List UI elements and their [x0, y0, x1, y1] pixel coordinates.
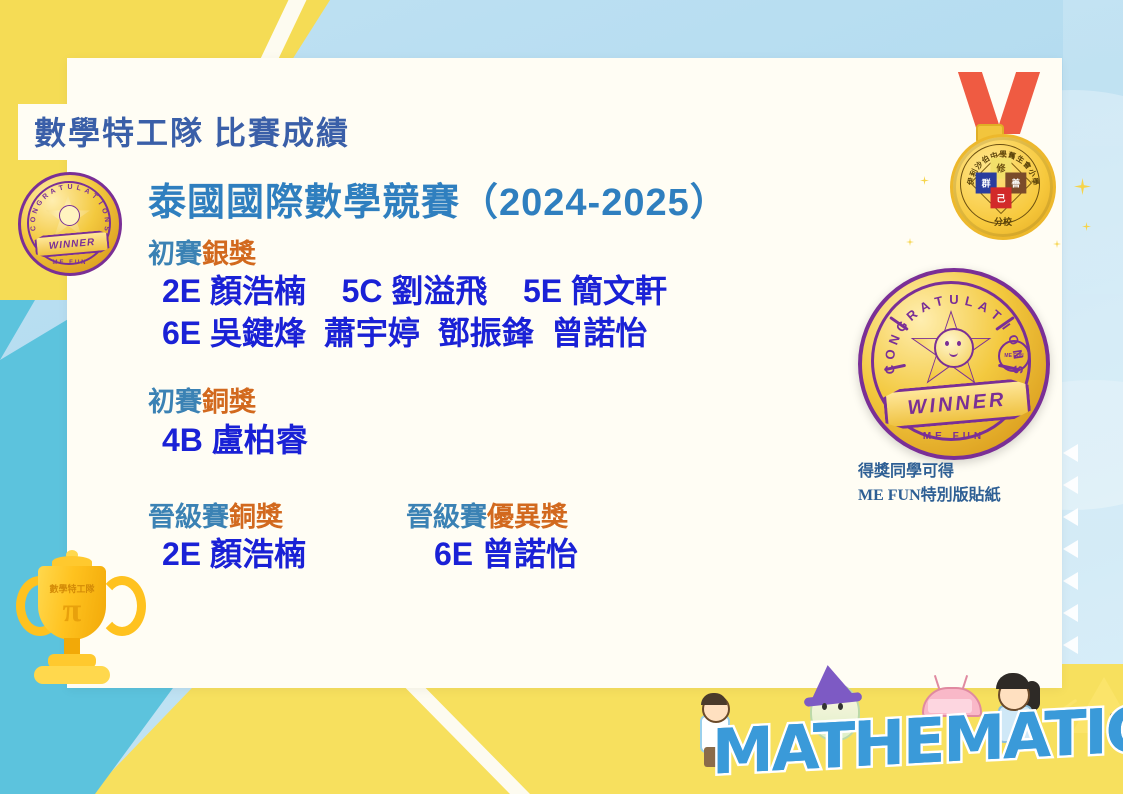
winner-medal-icon: CONGRATULATIONS ME FUN WINNER ME FUN: [858, 268, 1050, 460]
mascot-eye-right: [957, 341, 961, 346]
page-title-box: 數學特工隊 比賽成績: [18, 104, 366, 160]
triangle-icon: [1063, 508, 1078, 526]
triangle-icon: [1063, 540, 1078, 558]
emblem-char-ji: 己: [991, 187, 1012, 208]
mathematics-logo-text: MATHEMATICS: [712, 690, 1123, 788]
award-heading-silver: 初賽銀獎: [148, 238, 868, 270]
trophy-base-lower: [34, 666, 110, 684]
round-label-silver: 初賽: [148, 239, 202, 269]
award-label-bronze: 銅獎: [202, 387, 256, 417]
winner-medal-banner-text: WINNER: [907, 388, 1008, 420]
page-title: 數學特工隊 比賽成績: [34, 108, 350, 154]
winner-medal-seal: ME FUN: [998, 340, 1030, 372]
award-heading-bronze: 初賽銅獎: [148, 386, 868, 418]
trophy-pi-symbol: π: [8, 592, 136, 630]
school-medal-disc: 伊利沙伯中學舊生會小學 修 善 群 己 分校: [950, 134, 1056, 240]
winner-names-line: 4B 盧柏睿: [148, 419, 868, 461]
award-heading-advanced-bronze: 晉級賽銅獎: [148, 501, 406, 533]
advanced-round-names: 2E 顏浩楠 6E 曾諾怡: [148, 533, 868, 575]
round-label-bronze: 初賽: [148, 387, 202, 417]
poster-canvas: 數學特工隊 比賽成績 CONGRATULATIONS WINNER ME FUN…: [0, 0, 1123, 794]
competition-title: 泰國國際數學競賽（2024-2025）: [148, 180, 868, 228]
mathematics-logo: MATHEMATICS MATHEMATICS: [690, 655, 1110, 790]
sticker-note: 得獎同學可得 ME FUN特別版貼紙: [858, 460, 1001, 508]
mascot-mouth: [949, 350, 958, 357]
sticker-note-line1: 得獎同學可得: [858, 460, 1001, 484]
trophy-icon: 數學特工隊 π: [8, 556, 136, 706]
round-label-advanced-merit: 晉級賽: [406, 502, 487, 532]
award-label-advanced-bronze: 銅獎: [229, 502, 283, 532]
spacer: [148, 461, 868, 491]
winner-medal-small-icon: CONGRATULATIONS WINNER ME FUN: [18, 172, 122, 276]
triangle-icon: [1063, 636, 1078, 654]
award-label-advanced-merit: 優異獎: [487, 502, 568, 532]
round-label-advanced-bronze: 晉級賽: [148, 502, 229, 532]
spacer: [148, 354, 868, 376]
winner-names-line: 6E 吳鍵烽 蕭宇婷 鄧振鋒 曾諾怡: [148, 312, 868, 354]
winner-name-advanced-bronze: 2E 顏浩楠: [148, 533, 420, 575]
award-label-silver: 銀獎: [202, 239, 256, 269]
triangle-icon: [1063, 572, 1078, 590]
winner-medal-small-banner-text: WINNER: [48, 236, 95, 251]
triangle-icon: [1063, 444, 1078, 462]
results-content: 泰國國際數學競賽（2024-2025） 初賽銀獎 2E 顏浩楠 5C 劉溢飛 5…: [148, 180, 868, 576]
winner-medal-sub-text: ME FUN: [862, 431, 1046, 442]
winner-medal-small-sub: ME FUN: [21, 260, 119, 266]
school-medal-icon: 伊利沙伯中學舊生會小學 修 善 群 己 分校: [944, 72, 1056, 242]
mascot-eye-left: [945, 341, 949, 346]
sticker-note-line2: ME FUN特別版貼紙: [858, 484, 1001, 508]
award-heading-advanced-merit: 晉級賽優異獎: [406, 501, 568, 533]
winner-name-advanced-merit: 6E 曾諾怡: [420, 533, 578, 575]
triangle-icon: [1063, 476, 1078, 494]
advanced-round-headings: 晉級賽銅獎 晉級賽優異獎: [148, 491, 868, 533]
mascot-face-icon: [59, 205, 80, 226]
mascot-face-icon: [934, 328, 974, 368]
triangle-icon: [1063, 604, 1078, 622]
school-medal-branch-text: 分校: [953, 215, 1053, 228]
winner-names-line: 2E 顏浩楠 5C 劉溢飛 5E 簡文軒: [148, 270, 868, 312]
